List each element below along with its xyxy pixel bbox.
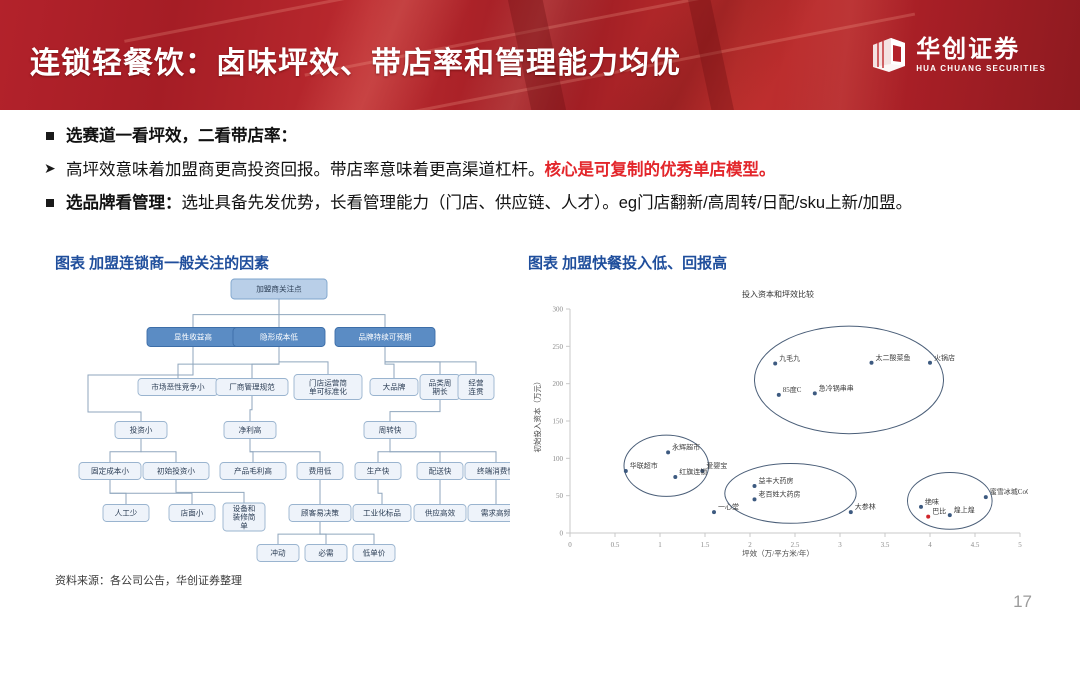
data-point xyxy=(926,515,930,519)
tree-node-label: 门店运营简 xyxy=(309,377,347,387)
bullet-text: 高坪效意味着加盟商更高投资回报。带店率意味着更高渠道杠杆。核心是可复制的优秀单店… xyxy=(66,160,776,181)
tree-link xyxy=(390,439,440,463)
data-point xyxy=(813,391,817,395)
y-tick-label: 200 xyxy=(553,380,564,388)
data-point-label: 爱婴宝 xyxy=(706,461,727,470)
tree-node: 投资小 xyxy=(115,422,167,439)
tree-node-label: 冲动 xyxy=(270,548,286,558)
tree-node: 配送快 xyxy=(417,463,463,480)
tree-node: 供应高效 xyxy=(414,505,466,522)
data-point-label: 老百姓大药房 xyxy=(759,489,801,498)
data-point-label: 九毛九 xyxy=(779,354,800,363)
data-point-label: 华联超市 xyxy=(630,461,658,470)
tree-link xyxy=(110,480,126,505)
tree-link xyxy=(252,347,279,379)
tree-node-label: 投资小 xyxy=(130,425,153,435)
bullet-item: 选品牌看管理：选址具备先发优势，长看管理能力（门店、供应链、人才）。eg门店翻新… xyxy=(40,193,1060,214)
tree-node: 产品毛利高 xyxy=(220,463,286,480)
tree-node-label: 单 xyxy=(240,520,248,530)
tree-node-label: 加盟商关注点 xyxy=(256,284,302,294)
chart-axes: 05010015020025030000.511.522.533.544.55 xyxy=(553,306,1023,550)
tree-node-label: 连贯 xyxy=(468,386,484,396)
tree-node: 工业化标品 xyxy=(353,505,411,522)
tree-node-group: 加盟商关注点显性收益高隐形成本低品牌持续可预期市场恶性竞争小厂商管理规范门店运营… xyxy=(79,279,510,562)
y-tick-label: 250 xyxy=(553,343,564,351)
tree-node: 设备和装修简单 xyxy=(223,503,265,531)
tree-node-label: 店面小 xyxy=(181,508,204,518)
tree-node: 顾客易决策 xyxy=(289,505,351,522)
bullet-segment: 选址具备先发优势，长看管理能力（门店、供应链、人才）。eg门店翻新/高周转/日配… xyxy=(182,194,913,212)
tree-node: 周转快 xyxy=(364,422,416,439)
logo-cube-icon xyxy=(871,36,907,74)
y-tick-label: 100 xyxy=(553,455,564,463)
logo-name-en: HUA CHUANG SECURITIES xyxy=(916,65,1046,73)
page-title: 连锁轻餐饮：卤味坪效、带店率和管理能力均优 xyxy=(30,38,681,82)
tree-node: 冲动 xyxy=(257,545,299,562)
tree-node-label: 装修简 xyxy=(233,512,256,522)
tree-node: 费用低 xyxy=(297,463,343,480)
tree-link xyxy=(390,400,440,422)
data-point xyxy=(666,450,670,454)
tree-node: 人工少 xyxy=(103,505,149,522)
tree-node-label: 大品牌 xyxy=(383,382,406,392)
tree-node-label: 经营 xyxy=(468,377,484,387)
data-point-label: 火锅店 xyxy=(934,353,955,362)
tree-node-label: 供应高效 xyxy=(425,508,456,518)
tree-node: 显性收益高 xyxy=(147,328,239,347)
tree-node-label: 设备和 xyxy=(233,503,256,513)
y-tick-label: 50 xyxy=(556,492,564,500)
tree-node-label: 低单价 xyxy=(363,548,386,558)
tree-node-label: 净利高 xyxy=(239,425,262,435)
tree-link xyxy=(250,396,252,422)
exhibit-title-left: 图表 加盟连锁商一般关注的因素 xyxy=(55,252,269,273)
x-tick-label: 1 xyxy=(658,541,662,549)
logo-text: 华创证券 HUA CHUANG SECURITIES xyxy=(916,38,1046,73)
tree-node-label: 厂商管理规范 xyxy=(229,382,275,392)
tree-node: 经营连贯 xyxy=(458,375,494,400)
data-point xyxy=(984,495,988,499)
tree-node: 生产快 xyxy=(355,463,401,480)
tree-link xyxy=(279,299,385,328)
tree-node: 必需 xyxy=(305,545,347,562)
bullet-segment: 选赛道一看坪效，二看带店率： xyxy=(66,127,297,145)
bullet-square-icon xyxy=(46,132,54,140)
slide-root: 连锁轻餐饮：卤味坪效、带店率和管理能力均优 华创证券 HUA CHUANG SE… xyxy=(0,0,1080,674)
x-tick-label: 2.5 xyxy=(791,541,800,549)
y-tick-label: 150 xyxy=(553,418,564,426)
data-point-label: 煌上煌 xyxy=(954,505,975,514)
bullet-item: 选赛道一看坪效，二看带店率： xyxy=(40,126,1060,147)
cluster-ellipse xyxy=(755,326,944,434)
tree-link xyxy=(110,439,141,463)
data-point-label: 益丰大药房 xyxy=(759,476,794,485)
data-point-label: 太二酸菜鱼 xyxy=(876,353,911,362)
data-point-label: 大参林 xyxy=(855,502,876,511)
tree-node: 门店运营简单可标准化 xyxy=(294,375,362,400)
page-number: 17 xyxy=(1013,592,1032,612)
data-point xyxy=(712,510,716,514)
x-tick-label: 0.5 xyxy=(611,541,620,549)
exhibit-title-right: 图表 加盟快餐投入低、回报高 xyxy=(528,252,727,273)
data-point xyxy=(919,505,923,509)
tree-node: 净利高 xyxy=(224,422,276,439)
tree-node-label: 费用低 xyxy=(309,466,332,476)
tree-link xyxy=(176,480,244,504)
tree-node-label: 隐形成本低 xyxy=(260,332,298,342)
data-point xyxy=(753,497,757,501)
tree-link xyxy=(378,439,390,463)
tree-node-label: 固定成本小 xyxy=(91,466,129,476)
x-tick-label: 4 xyxy=(928,541,932,549)
tree-link xyxy=(385,347,394,379)
tree-link xyxy=(385,347,476,375)
tree-node: 固定成本小 xyxy=(79,463,141,480)
tree-node-label: 产品毛利高 xyxy=(234,466,272,476)
tree-node: 大品牌 xyxy=(370,379,418,396)
tree-node-label: 配送快 xyxy=(429,466,452,476)
tree-node-label: 品类周 xyxy=(429,377,452,387)
data-point-label: 蜜雪冰城CoCo奶茶 xyxy=(990,487,1028,496)
tree-link xyxy=(279,347,328,375)
bullet-square-icon xyxy=(46,199,54,207)
data-point-label: 急冷锅串串 xyxy=(819,383,854,392)
scatter-chart-figure: 05010015020025030000.511.522.533.544.55 … xyxy=(528,275,1028,565)
tree-node: 初始投资小 xyxy=(143,463,209,480)
tree-link xyxy=(378,480,382,505)
data-point xyxy=(777,393,781,397)
tree-node-label: 期长 xyxy=(432,386,448,396)
x-tick-label: 4.5 xyxy=(971,541,980,549)
bullet-segment-highlight: 核心是可复制的优秀单店模型。 xyxy=(545,161,776,179)
tree-node-label: 市场恶性竞争小 xyxy=(151,382,205,392)
data-point-label: 红旗连锁 xyxy=(679,467,707,476)
tree-node-label: 周转快 xyxy=(379,425,402,435)
data-point-label: 绝味 xyxy=(925,497,939,506)
x-tick-label: 3.5 xyxy=(881,541,890,549)
tree-node: 隐形成本低 xyxy=(233,328,325,347)
tree-link xyxy=(320,522,326,545)
tree-node: 市场恶性竞争小 xyxy=(138,379,218,396)
bullet-arrow-icon: ➤ xyxy=(44,161,56,175)
bullet-segment: 选品牌看管理： xyxy=(66,194,182,212)
tree-node: 品类周期长 xyxy=(420,375,460,400)
cluster-ellipse xyxy=(908,473,993,530)
tree-node-label: 人工少 xyxy=(115,509,138,518)
tree-link xyxy=(278,522,320,545)
data-point xyxy=(948,513,952,517)
tree-node: 店面小 xyxy=(169,505,215,522)
data-point-label: 永辉超市 xyxy=(672,442,700,451)
tree-link xyxy=(320,522,374,545)
data-point xyxy=(673,475,677,479)
x-tick-label: 1.5 xyxy=(701,541,710,549)
header-banner: 连锁轻餐饮：卤味坪效、带店率和管理能力均优 华创证券 HUA CHUANG SE… xyxy=(0,0,1080,110)
data-point-label: 85度C xyxy=(783,385,802,394)
data-point-label: 巴比 xyxy=(932,507,946,516)
x-tick-label: 0 xyxy=(568,541,572,549)
tree-node: 低单价 xyxy=(353,545,395,562)
tree-node-label: 需求高频 xyxy=(481,508,510,518)
tree-link xyxy=(193,299,279,328)
tree-node-label: 生产快 xyxy=(367,466,390,476)
x-tick-label: 5 xyxy=(1018,541,1022,549)
tree-node-label: 单可标准化 xyxy=(309,386,347,396)
tree-node: 需求高频 xyxy=(468,505,510,522)
brand-logo: 华创证券 HUA CHUANG SECURITIES xyxy=(871,36,1046,74)
data-point xyxy=(624,469,628,473)
data-point xyxy=(870,361,874,365)
factor-tree-figure: 加盟商关注点显性收益高隐形成本低品牌持续可预期市场恶性竞争小厂商管理规范门店运营… xyxy=(48,275,510,575)
bullet-segment: 高坪效意味着加盟商更高投资回报。带店率意味着更高渠道杠杆。 xyxy=(66,161,545,179)
tree-node-label: 初始投资小 xyxy=(157,466,195,476)
y-tick-label: 0 xyxy=(560,530,564,538)
data-point-label: 一心堂 xyxy=(718,502,739,511)
chart-ylabel: 初始投入资本（万元） xyxy=(532,378,542,453)
data-point xyxy=(928,361,932,365)
tree-link xyxy=(385,347,440,375)
source-note: 资料来源：各公司公告，华创证券整理 xyxy=(55,572,242,588)
logo-name-cn: 华创证券 xyxy=(916,38,1046,62)
tree-link xyxy=(141,439,176,463)
tree-link xyxy=(250,439,320,463)
chart-title: 投入资本和坪效比较 xyxy=(742,289,814,299)
tree-node: 厂商管理规范 xyxy=(216,379,288,396)
bullet-text: 选赛道一看坪效，二看带店率： xyxy=(66,126,297,147)
tree-link xyxy=(390,439,496,463)
tree-node: 终端消费快 xyxy=(465,463,510,480)
data-point xyxy=(849,510,853,514)
bullet-item: ➤ 高坪效意味着加盟商更高投资回报。带店率意味着更高渠道杠杆。核心是可复制的优秀… xyxy=(40,160,1060,181)
x-tick-label: 2 xyxy=(748,541,752,549)
data-point xyxy=(753,484,757,488)
tree-node-label: 品牌持续可预期 xyxy=(358,332,412,342)
x-tick-label: 3 xyxy=(838,541,842,549)
tree-node: 品牌持续可预期 xyxy=(335,328,435,347)
tree-node-label: 显性收益高 xyxy=(174,332,212,342)
tree-node-label: 顾客易决策 xyxy=(301,508,339,518)
bullet-text: 选品牌看管理：选址具备先发优势，长看管理能力（门店、供应链、人才）。eg门店翻新… xyxy=(66,193,912,214)
tree-node-label: 工业化标品 xyxy=(363,508,401,518)
tree-node-label: 终端消费快 xyxy=(477,466,510,476)
chart-xlabel: 坪效（万/平方米/年） xyxy=(742,548,814,558)
bullet-list: 选赛道一看坪效，二看带店率： ➤ 高坪效意味着加盟商更高投资回报。带店率意味着更… xyxy=(40,126,1060,227)
tree-node-label: 必需 xyxy=(318,548,334,558)
tree-node: 加盟商关注点 xyxy=(231,279,327,299)
y-tick-label: 300 xyxy=(553,306,564,314)
data-point xyxy=(773,362,777,366)
